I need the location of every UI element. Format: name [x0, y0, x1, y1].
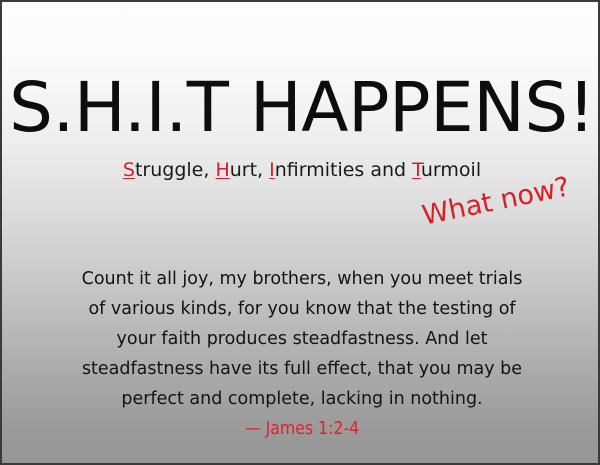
subtitle-initial-s: S: [123, 159, 135, 181]
subtitle-word-hurt: urt,: [230, 159, 269, 181]
slide-title: S.H.I.T HAPPENS!: [2, 74, 600, 143]
subtitle-word-infirmities: nfirmities and: [275, 159, 412, 181]
presentation-slide: S.H.I.T HAPPENS! Struggle, Hurt, Infirmi…: [0, 0, 600, 465]
subtitle-initial-t: T: [412, 159, 421, 181]
subtitle-word-turmoil: urmoil: [421, 159, 481, 181]
slide-subtitle: Struggle, Hurt, Infirmities and Turmoil: [2, 160, 600, 181]
scripture-verse: Count it all joy, my brothers, when you …: [80, 264, 524, 444]
verse-text: Count it all joy, my brothers, when you …: [82, 269, 523, 409]
subtitle-initial-h: H: [215, 159, 229, 181]
subtitle-word-struggle: truggle,: [135, 159, 215, 181]
verse-citation: — James 1:2-4: [245, 419, 359, 439]
